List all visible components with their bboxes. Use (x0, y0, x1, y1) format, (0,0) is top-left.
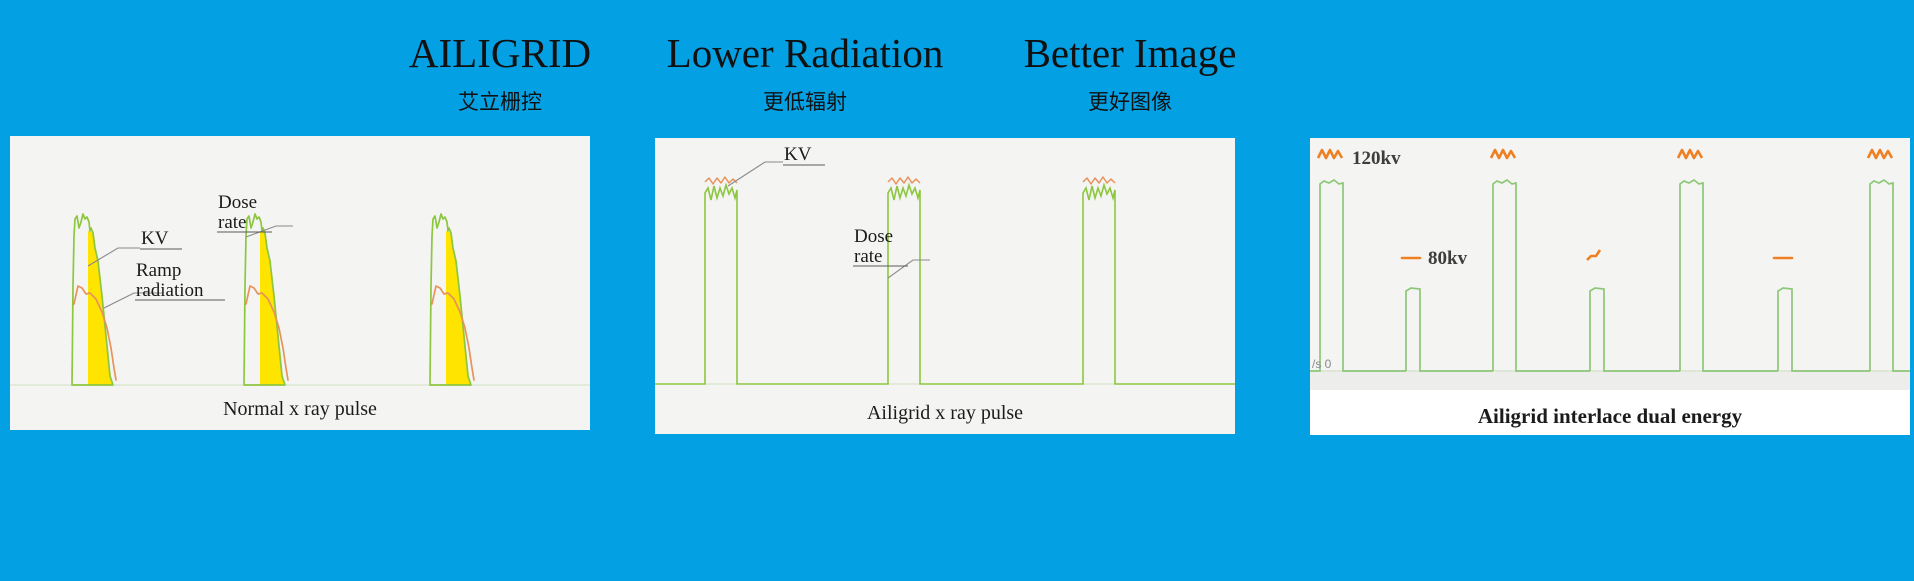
y-axis-label: /s 0 (1312, 357, 1332, 371)
kv-label-text: KV (141, 228, 169, 249)
dose-rate-leader-line (888, 260, 930, 278)
kv-noise-cap-3 (1083, 177, 1115, 184)
pulse-group-3 (430, 214, 474, 385)
ramp-radiation-label-line1: Ramp (136, 260, 181, 281)
header-column-better-image: Better Image 更好图像 (980, 28, 1280, 117)
annotation-dose-rate: Dose rate (853, 226, 930, 278)
chart-ailigrid-interlace-dual-energy: 120kv 80kv /s 0 (1310, 138, 1910, 390)
dose-rate-pulse-tall-1 (1310, 180, 1406, 371)
panel-ailigrid-x-ray-pulse: KV Dose rate Ailigrid x ray pulse (655, 138, 1235, 434)
panel-caption-normal-pulse: Normal x ray pulse (10, 398, 590, 421)
plot-area-ailigrid-pulse: KV Dose rate (655, 138, 1235, 394)
pulse-group-2 (244, 214, 288, 385)
pulse-group-1 (655, 177, 885, 384)
dose-rate-square-1 (655, 185, 885, 384)
dose-rate-square-2 (885, 185, 1070, 384)
plot-area-normal-pulse: KV Dose rate Ramp radiation (10, 136, 590, 394)
header-title-cn-2: 更好图像 (980, 87, 1280, 117)
chart-ailigrid-x-ray-pulse: KV Dose rate (655, 138, 1235, 394)
ramp-radiation-label-line2: radiation (136, 280, 204, 301)
header-column-ailigrid: AILIGRID 艾立栅控 (370, 28, 630, 117)
dose-rate-pulse-tall-4 (1870, 180, 1910, 371)
header-title-en-0: AILIGRID (370, 28, 630, 78)
header-title-cn-1: 更低辐射 (640, 87, 970, 117)
kv-marker-120-3 (1678, 150, 1702, 158)
annotation-ramp-radiation: Ramp radiation (104, 260, 225, 308)
pulse-group-3 (1070, 177, 1235, 384)
header-title-cn-0: 艾立栅控 (370, 87, 630, 117)
dose-rate-label-line1: Dose (854, 226, 893, 247)
plot-area-interlace-dual-energy: 120kv 80kv /s 0 (1310, 138, 1910, 390)
panel-normal-x-ray-pulse: KV Dose rate Ramp radiation Normal x ray… (10, 136, 590, 430)
annotation-kv: KV (728, 144, 825, 186)
pulse-group-1 (72, 214, 116, 385)
legend-label-80kv: 80kv (1428, 248, 1468, 269)
dose-rate-pulse-short-3 (1778, 288, 1870, 371)
kv-marker-120-2 (1491, 150, 1515, 158)
dose-rate-label-line2: rate (218, 212, 246, 233)
panel-caption-ailigrid-pulse: Ailigrid x ray pulse (655, 402, 1235, 425)
dose-rate-label-line1: Dose (218, 192, 257, 213)
kv-marker-120-4 (1868, 150, 1892, 158)
panel-ailigrid-interlace-dual-energy: 120kv 80kv /s 0 Ailigrid interlace dual … (1310, 138, 1910, 435)
chart-normal-x-ray-pulse: KV Dose rate Ramp radiation (10, 136, 590, 394)
kv-marker-120-group (1318, 150, 1892, 158)
panel-caption-interlace-dual-energy: Ailigrid interlace dual energy (1310, 404, 1910, 429)
header-column-lower-radiation: Lower Radiation 更低辐射 (640, 28, 970, 117)
dose-rate-label-line2: rate (854, 246, 882, 267)
kv-marker-120-1 (1318, 150, 1342, 158)
dose-rate-pulse-tall-3 (1680, 180, 1778, 371)
kv-label-text: KV (784, 144, 812, 165)
dose-rate-square-3 (1070, 185, 1235, 384)
kv-noise-cap-2 (888, 177, 920, 184)
header-banner: AILIGRID 艾立栅控 Lower Radiation 更低辐射 Bette… (0, 0, 1914, 140)
dose-rate-pulse-tall-2 (1493, 180, 1590, 371)
header-title-en-1: Lower Radiation (640, 28, 970, 78)
dose-rate-pulse-short-1 (1406, 288, 1493, 371)
legend-label-120kv: 120kv (1352, 148, 1401, 169)
header-title-en-2: Better Image (980, 28, 1280, 78)
dose-rate-pulse-short-2 (1590, 288, 1680, 371)
pulse-group-2 (885, 177, 1070, 384)
kv-marker-80-2 (1587, 250, 1600, 260)
axis-strip (1310, 370, 1910, 390)
